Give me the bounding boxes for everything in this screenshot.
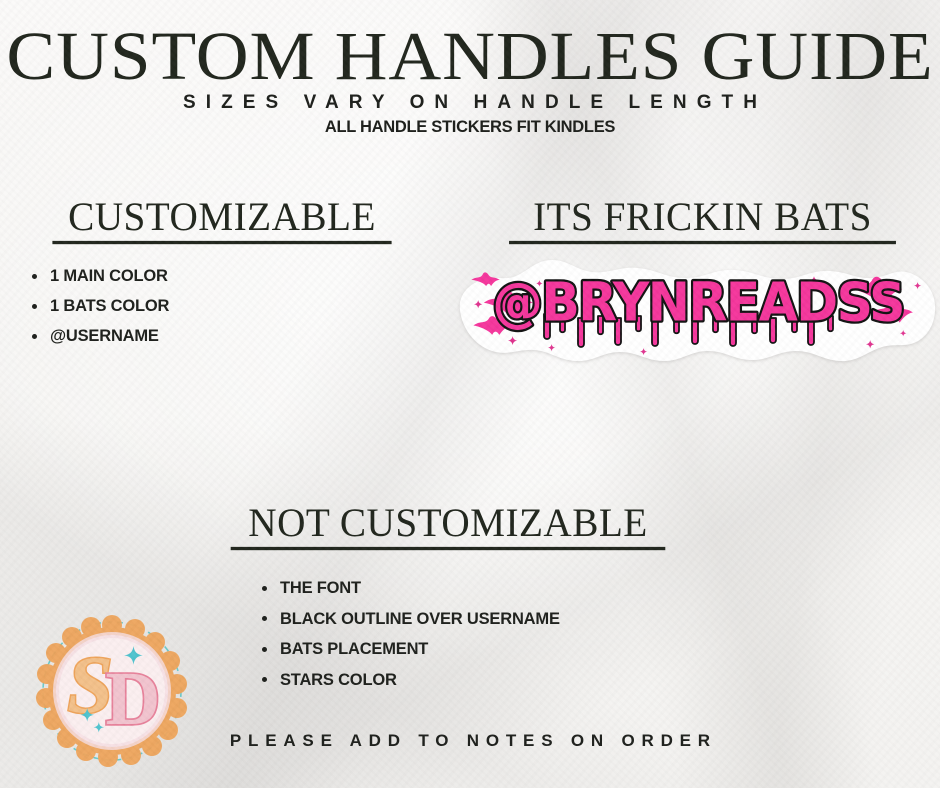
brand-logo-badge: S D — [33, 612, 191, 770]
sticker-username-text: @BRYNREADSS — [492, 272, 903, 334]
customizable-list: 1 MAIN COLOR 1 BATS COLOR @USERNAME — [28, 261, 169, 351]
section-heading-not-customizable: NOT CUSTOMIZABLE — [231, 503, 666, 550]
list-item: BLACK OUTLINE OVER USERNAME — [258, 604, 560, 635]
heading-underline — [231, 547, 666, 550]
list-item: THE FONT — [258, 573, 560, 604]
poster-content: CUSTOM HANDLES GUIDE SIZES VARY ON HANDL… — [0, 0, 940, 788]
section-heading-bats-label: ITS FRICKIN BATS — [533, 195, 872, 240]
heading-underline — [509, 241, 896, 244]
poster-background: CUSTOM HANDLES GUIDE SIZES VARY ON HANDL… — [0, 0, 940, 788]
list-item: @USERNAME — [28, 321, 169, 351]
section-heading-not-customizable-label: NOT CUSTOMIZABLE — [248, 501, 647, 546]
not-customizable-list: THE FONT BLACK OUTLINE OVER USERNAME BAT… — [258, 573, 560, 695]
section-heading-customizable-label: CUSTOMIZABLE — [68, 195, 376, 240]
list-item: 1 BATS COLOR — [28, 291, 169, 321]
heading-underline — [52, 241, 391, 244]
section-heading-bats: ITS FRICKIN BATS — [509, 197, 896, 244]
page-subtitle: SIZES VARY ON HANDLE LENGTH — [0, 92, 940, 114]
section-heading-customizable: CUSTOMIZABLE — [52, 197, 391, 244]
page-subtitle-secondary: ALL HANDLE STICKERS FIT KINDLES — [0, 118, 940, 137]
page-title: CUSTOM HANDLES GUIDE — [0, 23, 940, 91]
list-item: STARS COLOR — [258, 665, 560, 696]
list-item: BATS PLACEMENT — [258, 634, 560, 665]
bats-sticker-preview: @BRYNREADSS — [452, 248, 940, 373]
logo-monogram-d: D — [106, 657, 161, 741]
list-item: 1 MAIN COLOR — [28, 261, 169, 291]
